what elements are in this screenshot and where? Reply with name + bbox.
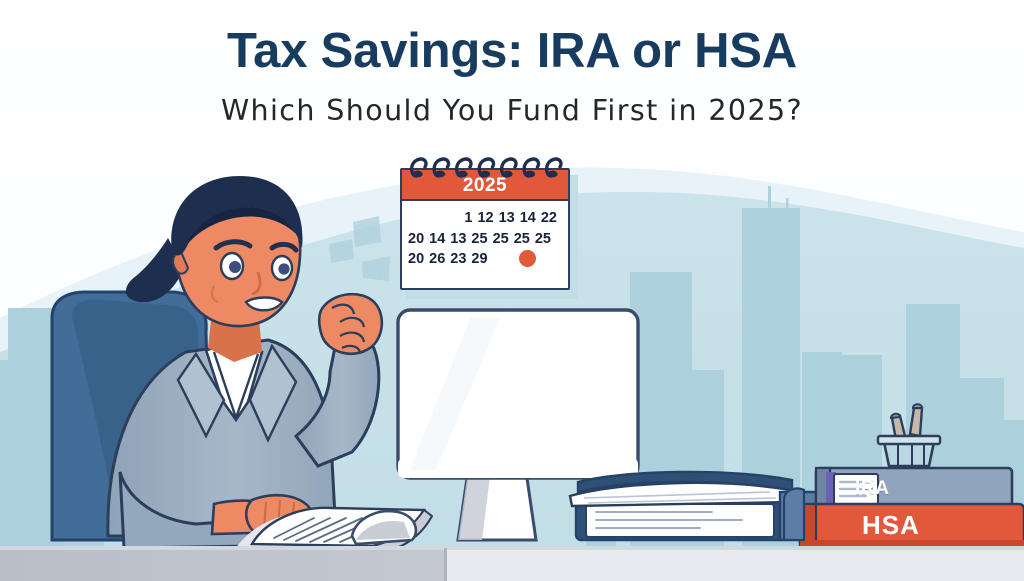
book-ira xyxy=(816,468,1012,508)
calendar-day: 1 xyxy=(464,208,472,229)
desk-calendar: 2025 112131422 20141325252525 20262329 xyxy=(400,168,572,294)
calendar-row: 112131422 xyxy=(408,208,562,229)
calendar-day: 29 xyxy=(471,249,487,270)
page-title: Tax Savings: IRA or HSA xyxy=(0,26,1024,78)
headline-block: Tax Savings: IRA or HSA Which Should You… xyxy=(0,26,1024,126)
book-label-hsa: HSA xyxy=(862,510,920,541)
desk-object xyxy=(784,488,804,540)
infographic-banner: Tax Savings: IRA or HSA Which Should You… xyxy=(0,0,1024,581)
calendar-day: 22 xyxy=(541,208,557,229)
calendar-day: 25 xyxy=(514,229,530,250)
desk-surface xyxy=(0,546,1024,581)
calendar-day: 12 xyxy=(477,208,493,229)
calendar-day: 25 xyxy=(471,229,487,250)
calendar-day: 20 xyxy=(408,249,424,270)
page-subtitle: Which Should You Fund First in 2025? xyxy=(0,95,1024,126)
calendar-day: 13 xyxy=(499,208,515,229)
calendar-day: 25 xyxy=(535,229,551,250)
calendar-row: 20262329 xyxy=(408,249,562,270)
calendar-row: 20141325252525 xyxy=(408,229,562,250)
calendar-day: 13 xyxy=(450,229,466,250)
calendar-body: 2025 112131422 20141325252525 20262329 xyxy=(400,168,570,290)
calendar-grid: 112131422 20141325252525 20262329 xyxy=(402,201,568,270)
calendar-day: 25 xyxy=(493,229,509,250)
book-label-ira: IRA xyxy=(855,478,890,500)
calendar-day: 26 xyxy=(429,249,445,270)
calendar-day: 14 xyxy=(429,229,445,250)
calendar-spiral-rings xyxy=(400,156,570,178)
calendar-day: 20 xyxy=(408,229,424,250)
calendar-day: 14 xyxy=(520,208,536,229)
calendar-highlight-dot xyxy=(519,250,536,267)
calendar-day: 23 xyxy=(450,249,466,270)
